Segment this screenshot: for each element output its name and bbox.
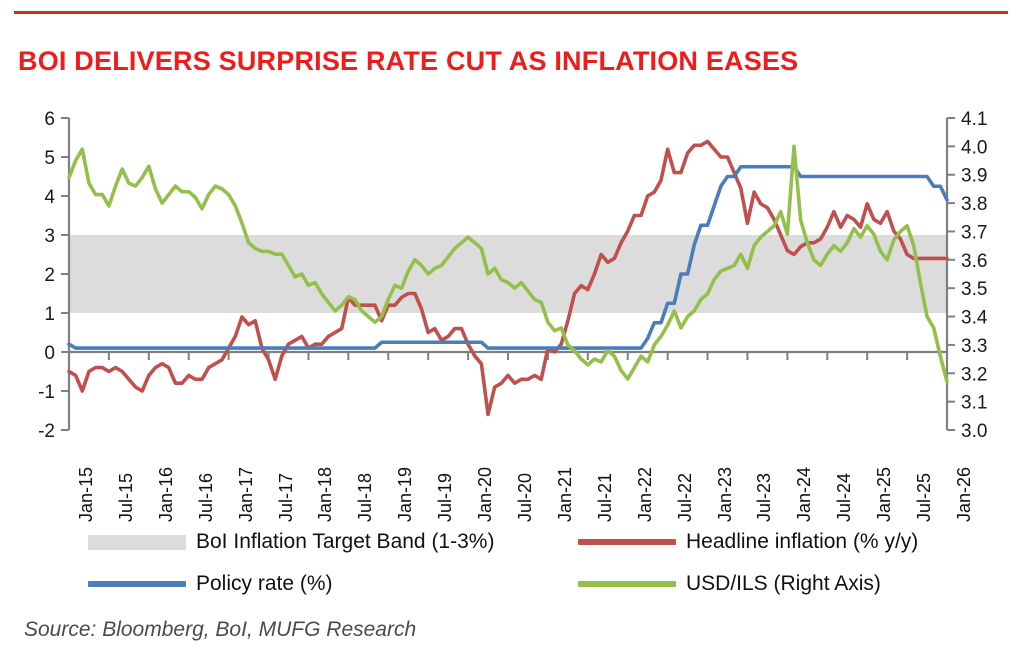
right-axis-tick-label: 4.0 <box>961 137 987 158</box>
chart-svg: 6543210-1-24.14.03.93.83.73.63.53.43.33.… <box>0 100 1022 450</box>
x-axis-tick-label: Jan-17 <box>236 467 257 522</box>
x-axis-tick-label: Jul-24 <box>834 473 855 522</box>
x-axis-tick-label: Jul-23 <box>754 473 775 522</box>
left-axis-tick-label: -1 <box>38 382 55 403</box>
left-axis-tick-label: 6 <box>44 109 55 130</box>
chart-plot-area: 6543210-1-24.14.03.93.83.73.63.53.43.33.… <box>0 100 1022 450</box>
right-axis-tick-label: 3.6 <box>961 251 987 272</box>
x-axis-tick-label: Jul-16 <box>196 473 217 522</box>
right-axis-tick-label: 3.3 <box>961 336 987 357</box>
left-axis-tick-label: 3 <box>44 226 55 247</box>
legend-swatch-line <box>578 539 676 545</box>
left-axis-tick-label: 5 <box>44 148 55 169</box>
x-axis-tick-label: Jan-16 <box>156 467 177 522</box>
source-note: Source: Bloomberg, BoI, MUFG Research <box>24 618 416 642</box>
x-axis-tick-label: Jan-22 <box>635 467 656 522</box>
x-axis-tick-label: Jan-24 <box>794 467 815 522</box>
x-axis-tick-label: Jan-19 <box>395 467 416 522</box>
right-axis-tick-label: 3.8 <box>961 194 987 215</box>
right-axis-tick-label: 3.2 <box>961 364 987 385</box>
x-axis-tick-label: Jan-15 <box>76 467 97 522</box>
legend-swatch-line <box>578 581 676 587</box>
x-axis-tick-label: Jul-18 <box>355 473 376 522</box>
top-accent-rule <box>14 11 1008 14</box>
chart-legend: BoI Inflation Target Band (1-3%)Headline… <box>0 522 1022 602</box>
page-title: BOI DELIVERS SURPRISE RATE CUT AS INFLAT… <box>18 44 998 78</box>
x-axis-tick-labels: Jan-15Jul-15Jan-16Jul-16Jan-17Jul-17Jan-… <box>0 432 1022 528</box>
x-axis-tick-label: Jan-18 <box>315 467 336 522</box>
x-axis-tick-label: Jul-20 <box>515 473 536 522</box>
legend-item[interactable]: Policy rate (%) <box>88 572 333 596</box>
x-axis-tick-label: Jul-25 <box>914 473 935 522</box>
right-axis-tick-label: 3.9 <box>961 166 987 187</box>
legend-item-label: BoI Inflation Target Band (1-3%) <box>196 530 494 554</box>
right-axis-tick-label: 3.7 <box>961 222 987 243</box>
legend-item[interactable]: Headline inflation (% y/y) <box>578 530 918 554</box>
x-axis-tick-label: Jul-19 <box>435 473 456 522</box>
legend-item[interactable]: BoI Inflation Target Band (1-3%) <box>88 530 494 554</box>
inflation-target-band <box>69 235 947 313</box>
left-axis-tick-label: 1 <box>44 304 55 325</box>
x-axis-tick-label: Jul-22 <box>675 473 696 522</box>
right-axis-tick-label: 3.5 <box>961 279 987 300</box>
legend-item-label: USD/ILS (Right Axis) <box>686 572 881 596</box>
x-axis-tick-label: Jan-26 <box>954 467 975 522</box>
legend-swatch-band <box>88 535 186 550</box>
left-axis-tick-label: 4 <box>44 187 55 208</box>
left-axis-tick-label: 2 <box>44 265 55 286</box>
legend-item-label: Headline inflation (% y/y) <box>686 530 918 554</box>
x-axis-tick-label: Jul-21 <box>595 473 616 522</box>
x-axis-tick-label: Jan-21 <box>555 467 576 522</box>
right-axis-tick-label: 3.4 <box>961 308 988 329</box>
legend-item-label: Policy rate (%) <box>196 572 333 596</box>
right-axis-tick-label: 3.1 <box>961 393 987 414</box>
x-axis-tick-label: Jan-20 <box>475 467 496 522</box>
x-axis-tick-label: Jan-23 <box>715 467 736 522</box>
left-axis-tick-label: 0 <box>44 343 55 364</box>
legend-item[interactable]: USD/ILS (Right Axis) <box>578 572 881 596</box>
x-axis-tick-label: Jul-17 <box>276 473 297 522</box>
right-axis-tick-label: 4.1 <box>961 109 987 130</box>
x-axis-tick-label: Jan-25 <box>874 467 895 522</box>
legend-swatch-line <box>88 581 186 587</box>
x-axis-tick-label: Jul-15 <box>116 473 137 522</box>
